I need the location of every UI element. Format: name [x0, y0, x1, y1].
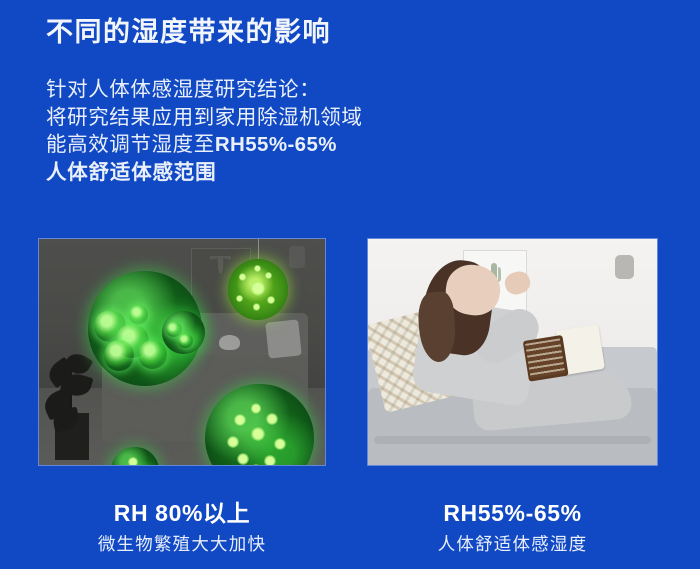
page-title: 不同的湿度带来的影响: [46, 16, 331, 50]
hand: [502, 268, 532, 296]
caption-subtitle: 人体舒适体感湿度: [367, 531, 658, 557]
hanging-cord: [258, 238, 259, 261]
body-line-3: 能高效调节湿度至RH55%-65%: [46, 131, 363, 159]
microbe-sphere-hanging: [228, 259, 288, 320]
woman-reading: [406, 262, 631, 429]
microbe-partial-right: [162, 311, 205, 354]
caption-comfort-humidity: RH55%-65% 人体舒适体感湿度: [367, 498, 658, 557]
caption-title: RH55%-65%: [367, 498, 658, 528]
caption-title: RH 80%以上: [38, 498, 326, 528]
dark-living-room-illustration: [39, 239, 325, 465]
slide-root: 不同的湿度带来的影响 针对人体体感湿度研究结论： 将研究结果应用到家用除湿机领域…: [0, 0, 700, 569]
caption-high-humidity: RH 80%以上 微生物繁殖大大加快: [38, 498, 326, 557]
body-line-4: 人体舒适体感范围: [46, 159, 363, 187]
caption-subtitle: 微生物繁殖大大加快: [38, 531, 326, 557]
body-line-3-prefix: 能高效调节湿度至: [46, 133, 215, 156]
body-line-2: 将研究结果应用到家用除湿机领域: [46, 104, 363, 132]
body-copy: 针对人体体感湿度研究结论： 将研究结果应用到家用除湿机领域 能高效调节湿度至RH…: [46, 76, 363, 186]
bright-living-room-illustration: [368, 239, 657, 465]
photo-comfort-humidity: [367, 238, 658, 466]
photo-high-humidity: [38, 238, 326, 466]
body-line-1: 针对人体体感湿度研究结论：: [46, 76, 363, 104]
photo-row: [0, 238, 700, 466]
humidity-range-highlight: RH55%-65%: [215, 133, 337, 156]
